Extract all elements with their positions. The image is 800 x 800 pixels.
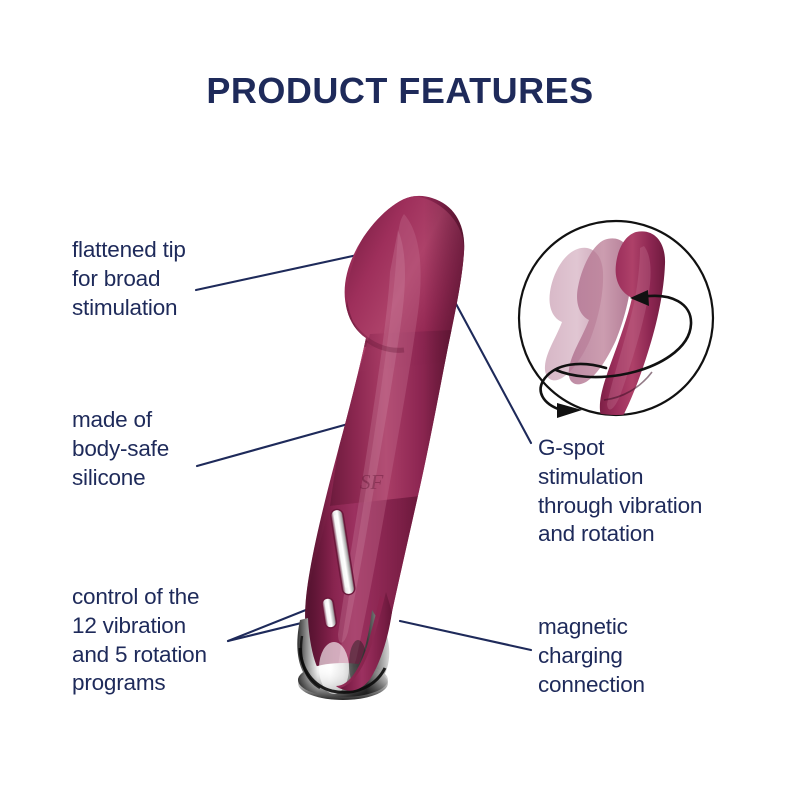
rotation-arrow-front-head	[557, 403, 582, 418]
control-button-short[interactable]	[321, 597, 337, 628]
callout-g-spot-stimulation: G-spot stimulation through vibration and…	[538, 434, 778, 549]
brand-mark-text: SF	[360, 470, 384, 494]
magnetic-charging-base	[297, 610, 389, 700]
product-body: SF	[297, 190, 470, 700]
infographic-canvas: PRODUCT FEATURES	[0, 0, 800, 800]
rotation-inset	[519, 221, 713, 425]
brand-mark: SF	[360, 470, 384, 494]
control-button-long[interactable]	[330, 509, 356, 596]
rotation-arrow-back-head	[630, 290, 649, 306]
page-title: PRODUCT FEATURES	[0, 70, 800, 112]
callout-magnetic-charging: magnetic charging connection	[538, 613, 778, 699]
leader-line-magnetic	[400, 621, 531, 650]
rotation-arrow-back	[556, 296, 691, 377]
callout-flattened-tip: flattened tip for broad stimulation	[72, 236, 287, 322]
rotation-arrow-front	[541, 364, 606, 410]
callout-body-safe-silicone: made of body-safe silicone	[72, 406, 287, 492]
callout-control-programs: control of the 12 vibration and 5 rotati…	[72, 583, 307, 698]
leader-line-gspot	[455, 302, 531, 443]
